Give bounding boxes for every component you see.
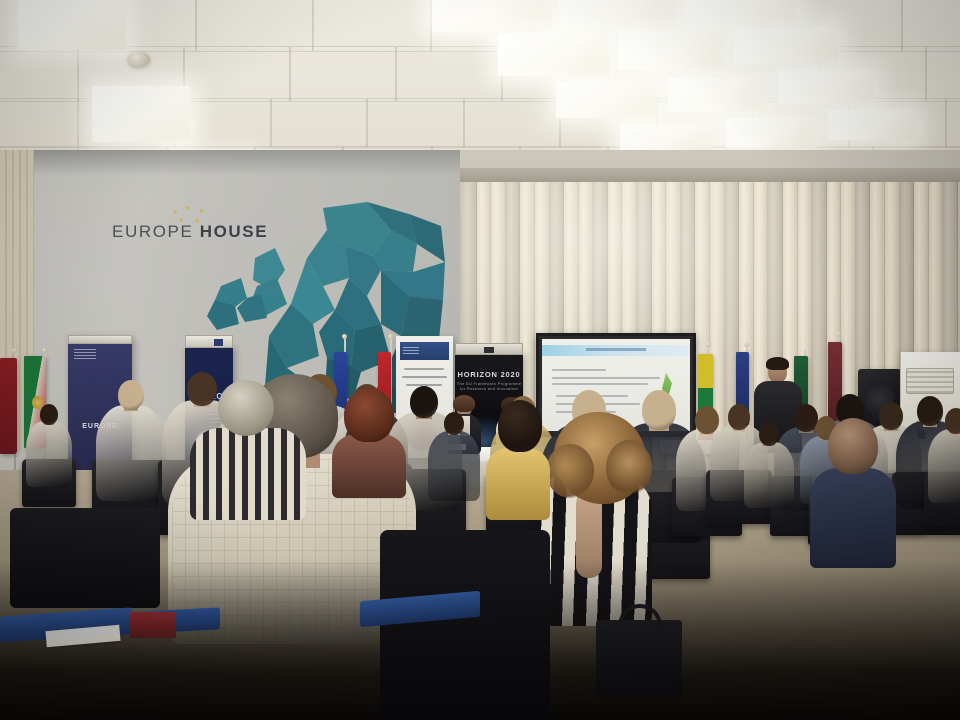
ceiling-tile [396,46,502,102]
ceiling-light-panel [828,110,916,140]
attendee-head [828,418,878,474]
attendee-torso [486,448,550,520]
attendee-torso [332,434,406,498]
chair-legs-right [700,560,810,710]
banner-top-rail [185,335,233,348]
attendee-head [759,422,779,446]
attendee-head [945,408,960,434]
ceiling-tile [184,46,290,102]
smoke-detector-icon [128,52,150,66]
attendee-red-hair [330,388,408,498]
ceiling-tile [0,46,78,102]
foreground-chair-left [10,508,160,608]
ceiling-tile [946,98,960,148]
wall-shadow [0,150,500,176]
attendee-head [444,412,464,435]
attendee-torso [810,468,896,568]
attendee-head [40,404,58,425]
ceiling-light-panel [92,86,190,142]
banner-top-rail [455,343,523,355]
handbag [596,620,682,698]
ceiling-light-panel [734,26,838,64]
attendee-head [118,380,144,410]
attendee-head [728,404,750,430]
ceiling-tile [290,46,396,102]
conference-room-photo: EUROPE HOUSE ★ ★ ★ ★ ★ [0,0,960,720]
attendee-navy-shirt [810,418,898,568]
ceiling-tile [367,98,463,148]
ceiling-light-panel [668,78,766,112]
ceiling-light-panel [432,0,552,32]
attendee-hair-curls [546,444,594,498]
ceiling-light-panel [618,30,726,70]
attendee-striped-shirt-man [190,380,308,520]
ceiling-light-panel [18,0,126,50]
attendee-head [218,380,274,436]
attendee-yellow-top [486,400,552,520]
attendee-torso [928,429,960,503]
ceiling-tile [926,46,960,102]
ceiling-tile [313,0,431,52]
attendee-head [695,406,719,434]
banner-top-rail [68,335,132,344]
attendee-hair-curls [606,440,652,496]
banner-logo-icon [74,349,96,359]
ceiling-light-panel [778,70,874,104]
attendee-torso [190,428,306,520]
ceiling-tile [0,98,78,148]
blind-headrail [460,168,960,182]
attendee-torso [26,421,72,487]
ceiling-light-panel [558,0,676,30]
bag-icon [130,612,176,638]
slide-header-band [542,345,690,356]
attendee-torso [744,442,794,508]
ceiling-light-panel [498,34,608,76]
attendee-head [498,400,542,452]
ceiling-tile [196,0,314,52]
attendee-torso [428,431,480,501]
ceiling-light-panel [726,118,816,148]
ceiling-tile [464,98,560,148]
attendee-torso [96,405,166,501]
attendee-head [344,388,394,442]
foreground-chair-center [380,530,550,720]
attendee-head [917,396,943,426]
ceiling-tile [902,0,960,52]
ceiling-light-panel [556,82,656,118]
ceiling-tile [271,98,367,148]
